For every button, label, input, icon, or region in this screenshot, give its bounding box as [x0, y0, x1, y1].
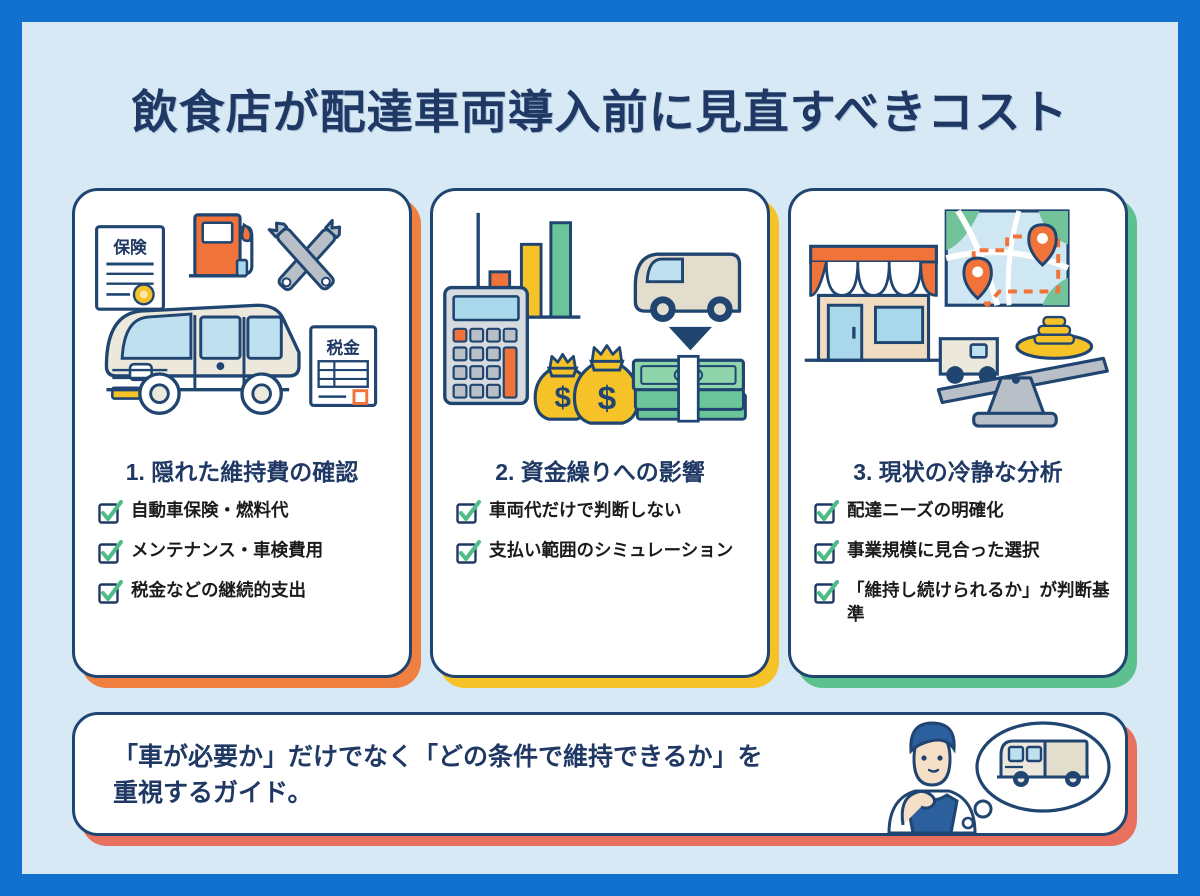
list-item-label: 自動車保険・燃料代 — [131, 499, 289, 523]
thought-bubble-icon — [963, 723, 1109, 828]
calculator-barchart-moneybags-van-cash-illustration: $ $ — [433, 199, 767, 439]
banner-text-line2: 重視するガイド。 — [113, 775, 873, 811]
banner-text: 「車が必要か」だけでなく「どの条件で維持できるか」を 重視するガイド。 — [113, 739, 873, 812]
list-item: 配達ニーズの明確化 — [813, 499, 1113, 525]
down-arrow-icon — [669, 327, 712, 351]
list-item-label: 支払い範囲のシミュレーション — [489, 539, 733, 563]
list-item-label: 車両代だけで判断しない — [489, 499, 682, 523]
card-body: 3. 現状の冷静な分析 配達ニーズの明確化 — [788, 188, 1128, 678]
money-bags-icon: $ $ — [535, 346, 638, 424]
thinking-person-with-truck-thought-bubble — [867, 715, 1117, 833]
list-item: 税金などの継続的支出 — [97, 579, 397, 605]
list-item: 自動車保険・燃料代 — [97, 499, 397, 525]
list-item: 車両代だけで判断しない — [455, 499, 755, 525]
list-item-label: 「維持し続けられるか」が判断基準 — [847, 579, 1113, 626]
checkbox-check-icon — [97, 580, 122, 605]
card-body: $ $ — [430, 188, 770, 678]
route-map-icon — [946, 211, 1068, 305]
list-item-label: 事業規模に見合った選択 — [847, 539, 1040, 563]
checkbox-check-icon — [813, 500, 838, 525]
calculator-icon — [445, 288, 528, 404]
card-bullet-list: 自動車保険・燃料代 メンテナンス・車検費用 — [97, 499, 397, 619]
van-illustration — [106, 305, 299, 413]
checkbox-check-icon — [97, 500, 122, 525]
svg-text:$: $ — [598, 380, 617, 417]
list-item-label: 配達ニーズの明確化 — [847, 499, 1004, 523]
list-item-label: 税金などの継続的支出 — [131, 579, 306, 603]
card-bullet-list: 配達ニーズの明確化 事業規模に見合った選択 — [813, 499, 1113, 640]
svg-text:保険: 保険 — [112, 237, 147, 257]
insurance-fuel-wrench-van-tax-illustration: 保険 — [75, 199, 409, 439]
card-situation-analysis[interactable]: 3. 現状の冷静な分析 配達ニーズの明確化 — [788, 188, 1128, 678]
card-heading: 1. 隠れた維持費の確認 — [75, 453, 409, 487]
banner-text-line1: 「車が必要か」だけでなく「どの条件で維持できるか」を — [113, 739, 873, 775]
checkbox-check-icon — [455, 500, 480, 525]
summary-banner: 「車が必要か」だけでなく「どの条件で維持できるか」を 重視するガイド。 — [72, 712, 1128, 844]
cash-stack-icon — [633, 356, 745, 421]
card-hidden-costs[interactable]: 保険 — [72, 188, 412, 678]
page-title: 飲食店が配達車両導入前に見直すべきコスト — [22, 76, 1178, 142]
list-item: メンテナンス・車検費用 — [97, 539, 397, 565]
list-item: 「維持し続けられるか」が判断基準 — [813, 579, 1113, 626]
checkbox-check-icon — [813, 580, 838, 605]
banner-body: 「車が必要か」だけでなく「どの条件で維持できるか」を 重視するガイド。 — [72, 712, 1128, 836]
storefront-map-truck-scale-illustration — [791, 199, 1125, 439]
insurance-document-icon: 保険 — [97, 227, 164, 310]
list-item-label: メンテナンス・車検費用 — [131, 539, 323, 563]
card-heading: 3. 現状の冷静な分析 — [791, 453, 1125, 487]
card-bullet-list: 車両代だけで判断しない 支払い範囲のシミュレーション — [455, 499, 755, 579]
checkbox-check-icon — [97, 540, 122, 565]
checkbox-check-icon — [813, 540, 838, 565]
card-cashflow-impact[interactable]: $ $ — [430, 188, 770, 678]
thinking-person-icon — [889, 723, 975, 833]
poster-frame: 飲食店が配達車両導入前に見直すべきコスト 保険 — [22, 22, 1178, 874]
checkbox-check-icon — [455, 540, 480, 565]
storefront-icon — [805, 246, 943, 360]
gold-coins — [1035, 317, 1074, 344]
cards-row: 保険 — [72, 188, 1128, 678]
fuel-pump-icon — [189, 215, 252, 276]
delivery-van-icon — [635, 254, 739, 322]
list-item: 支払い範囲のシミュレーション — [455, 539, 755, 565]
card-heading: 2. 資金繰りへの影響 — [433, 453, 767, 487]
card-body: 保険 — [72, 188, 412, 678]
list-item: 事業規模に見合った選択 — [813, 539, 1113, 565]
svg-text:税金: 税金 — [326, 337, 360, 357]
small-truck-icon — [940, 339, 997, 384]
wrench-tools-icon — [269, 220, 343, 292]
svg-text:$: $ — [554, 381, 570, 414]
tax-document-icon: 税金 — [311, 327, 376, 406]
